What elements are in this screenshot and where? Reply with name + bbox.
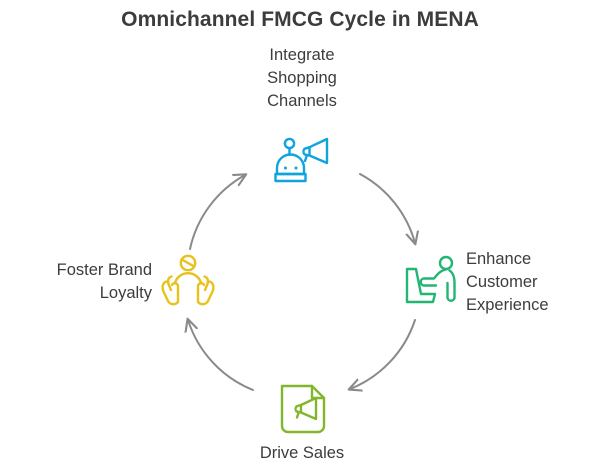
arrow-drive-to-foster [188, 320, 253, 390]
arrow-foster-to-integrate [190, 175, 245, 249]
arrow-enhance-to-drive [350, 320, 415, 389]
page-title: Omnichannel FMCG Cycle in MENA [0, 8, 600, 32]
diagram-canvas: Omnichannel FMCG Cycle in MENA [0, 0, 600, 476]
node-label-integrate: Integrate Shopping Channels [202, 44, 402, 113]
hands-holding-person-icon[interactable] [157, 250, 219, 312]
node-label-foster: Foster Brand Loyalty [0, 259, 152, 305]
node-label-drive: Drive Sales [202, 442, 402, 465]
node-label-enhance: Enhance Customer Experience [466, 248, 600, 317]
document-megaphone-icon[interactable] [272, 378, 334, 440]
robot-megaphone-icon[interactable] [271, 130, 333, 192]
person-at-counter-icon[interactable] [403, 250, 465, 312]
arrow-integrate-to-enhance [360, 174, 415, 243]
